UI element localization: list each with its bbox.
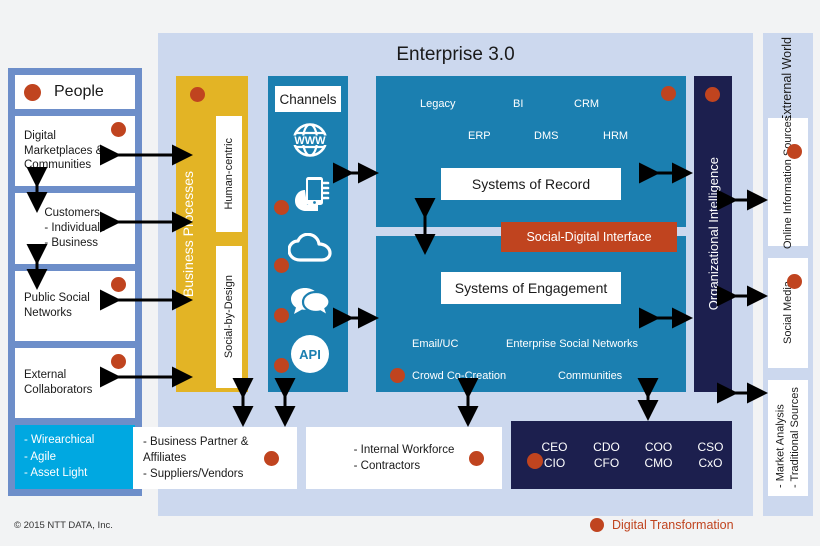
cxo-item: CDO xyxy=(581,440,633,454)
organizational-intelligence-panel: Organizational Intelligence xyxy=(694,76,732,392)
channels-panel: Channels WWW API xyxy=(268,76,348,392)
digital-transformation-dot xyxy=(111,277,126,292)
business-processes-sub-social-by-design: Social-by-Design xyxy=(216,246,242,388)
core-tag-legacy: Legacy xyxy=(420,98,455,110)
cxo-item: CSO xyxy=(685,440,737,454)
people-item-label: Customers - Individuals - Business xyxy=(44,206,105,250)
legend: Digital Transformation xyxy=(590,518,734,532)
bottom-box-internal-workforce[interactable]: - Internal Workforce - Contractors xyxy=(306,427,502,489)
core-tag-bi: BI xyxy=(513,98,523,110)
digital-transformation-dot xyxy=(705,87,720,102)
digital-transformation-dot xyxy=(274,200,289,215)
external-item-online-information-sources[interactable]: Online Information Sources xyxy=(768,118,808,246)
core-tag-crm: CRM xyxy=(574,98,599,110)
people-item-digital-marketplaces[interactable]: Digital Marketplaces & Communities xyxy=(15,116,135,186)
enterprise-core-panel: Legacy BI CRM ERP DMS HRM Systems of Rec… xyxy=(376,76,686,392)
digital-transformation-dot xyxy=(111,122,126,137)
people-header-label: People xyxy=(54,82,104,102)
business-processes-panel: Business Processes Human-centric Social-… xyxy=(176,76,248,392)
chat-bubbles-icon xyxy=(288,282,332,322)
svg-text:WWW: WWW xyxy=(294,135,326,147)
cxo-item: COO xyxy=(633,440,685,454)
core-tag-crowd: Crowd Co-Creation xyxy=(412,370,506,382)
core-tag-esn: Enterprise Social Networks xyxy=(506,338,638,350)
people-header: People xyxy=(15,75,135,109)
cxo-item: CMO xyxy=(633,456,685,470)
external-world-title: Extrernal World xyxy=(780,37,796,123)
digital-transformation-dot xyxy=(274,358,289,373)
core-tag-email-uc: Email/UC xyxy=(412,338,458,350)
people-item-customers[interactable]: Customers - Individuals - Business xyxy=(15,193,135,263)
digital-transformation-dot xyxy=(274,258,289,273)
people-item-public-social-networks[interactable]: Public Social Networks xyxy=(15,271,135,341)
social-digital-interface-box: Social-Digital Interface xyxy=(501,222,677,252)
external-item-label: - Market Analysis - Traditional Sources xyxy=(768,380,808,496)
digital-transformation-dot xyxy=(274,308,289,323)
people-item-external-collaborators[interactable]: External Collaborators xyxy=(15,348,135,418)
people-item-label: External Collaborators xyxy=(24,368,126,397)
digital-transformation-dot xyxy=(661,86,676,101)
digital-transformation-dot xyxy=(469,451,484,466)
digital-transformation-dot xyxy=(527,453,543,469)
people-column: People Digital Marketplaces & Communitie… xyxy=(8,68,142,496)
core-tag-hrm: HRM xyxy=(603,130,628,142)
digital-transformation-dot xyxy=(264,451,279,466)
sub-label: Social-by-Design xyxy=(223,275,235,358)
mobile-hand-icon xyxy=(288,174,332,214)
legend-label: Digital Transformation xyxy=(612,518,734,532)
cxo-item: CxO xyxy=(685,456,737,470)
page-title: Enterprise 3.0 xyxy=(158,44,753,66)
digital-transformation-dot xyxy=(111,354,126,369)
cloud-icon xyxy=(288,228,332,268)
external-item-social-media[interactable]: Social Media xyxy=(768,258,808,368)
org-intelligence-title: Organizational Intelligence xyxy=(706,157,721,310)
globe-www-icon: WWW xyxy=(288,120,332,160)
api-icon-label: API xyxy=(291,335,329,373)
api-icon: API xyxy=(288,334,332,374)
core-tag-dms: DMS xyxy=(534,130,558,142)
systems-of-engagement-box: Systems of Engagement xyxy=(441,272,621,304)
core-tag-erp: ERP xyxy=(468,130,491,142)
bottom-box-cxo[interactable]: CEO CDO COO CSO CIO CFO CMO CxO xyxy=(511,421,732,489)
people-attributes-label: - Wirearchical - Agile - Asset Light xyxy=(24,432,94,482)
external-item-label: Online Information Sources xyxy=(768,118,808,246)
business-processes-title-wrap: Business Processes xyxy=(180,76,196,392)
people-attributes-box: - Wirearchical - Agile - Asset Light xyxy=(15,425,135,489)
bottom-box-internal-label: - Internal Workforce - Contractors xyxy=(354,442,455,474)
business-processes-title: Business Processes xyxy=(180,171,196,297)
cxo-item: CEO xyxy=(529,440,581,454)
external-world-header: Extrernal World xyxy=(768,45,808,115)
org-intelligence-title-wrap: Organizational Intelligence xyxy=(694,76,732,392)
external-item-label: Social Media xyxy=(768,258,808,368)
copyright-text: © 2015 NTT DATA, Inc. xyxy=(14,520,113,531)
digital-transformation-dot xyxy=(24,84,41,101)
core-tag-communities: Communities xyxy=(558,370,622,382)
bottom-box-partners[interactable]: - Business Partner & Affiliates - Suppli… xyxy=(133,427,297,489)
digital-transformation-dot xyxy=(590,518,604,532)
people-item-label: Digital Marketplaces & Communities xyxy=(24,129,126,173)
cxo-grid: CEO CDO COO CSO CIO CFO CMO CxO xyxy=(529,440,737,470)
bottom-box-partners-label: - Business Partner & Affiliates - Suppli… xyxy=(143,434,248,482)
digital-transformation-dot xyxy=(787,274,802,289)
people-item-label: Public Social Networks xyxy=(24,291,126,320)
channels-title: Channels xyxy=(275,86,341,112)
systems-of-record-box: Systems of Record xyxy=(441,168,621,200)
digital-transformation-dot xyxy=(390,368,405,383)
business-processes-sub-human-centric: Human-centric xyxy=(216,116,242,232)
sub-label: Human-centric xyxy=(223,138,235,210)
digital-transformation-dot xyxy=(787,144,802,159)
cxo-item: CFO xyxy=(581,456,633,470)
external-item-market-analysis[interactable]: - Market Analysis - Traditional Sources xyxy=(768,380,808,496)
